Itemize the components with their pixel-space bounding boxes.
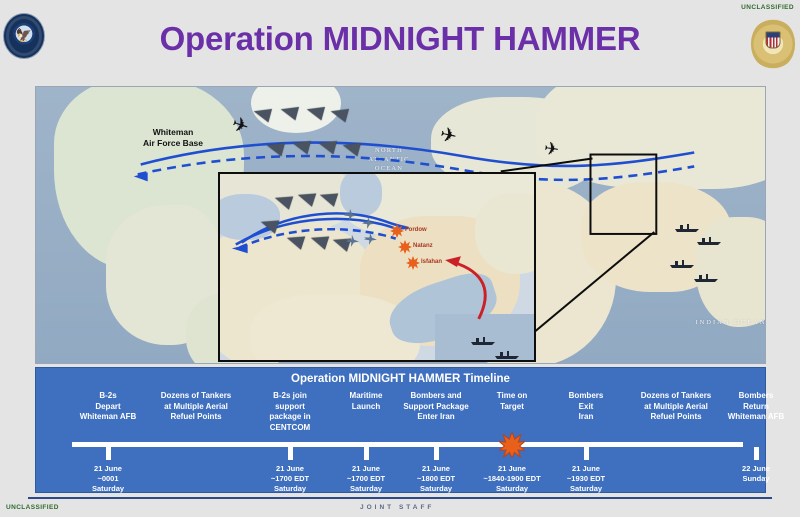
timeline-tick-return bbox=[754, 447, 759, 460]
target-label-isfahan: Isfahan bbox=[421, 259, 442, 265]
route-outbound-solid bbox=[141, 143, 694, 166]
timeline-event-label-line: Enter Iran bbox=[386, 412, 486, 423]
operation-map: NORTH ATLANTIC OCEAN INDIAN OCEAN Whitem… bbox=[35, 86, 766, 364]
timeline-tick-exit-iran bbox=[584, 447, 589, 460]
footer-divider bbox=[28, 497, 772, 499]
timeline-date-return: 22 JuneSunday bbox=[701, 464, 800, 484]
timeline-event-label-line: Refuel Points bbox=[146, 412, 246, 423]
navy-ship-icon bbox=[470, 332, 496, 341]
timeline-event-label-line: Return bbox=[706, 402, 800, 413]
timeline-event-label-line: Bombers bbox=[536, 391, 636, 402]
timeline-event-label-line: B-2s bbox=[58, 391, 158, 402]
timeline-event-label-line: Whiteman AFB bbox=[706, 412, 800, 423]
page-title: Operation MIDNIGHT HAMMER bbox=[0, 20, 800, 58]
timeline-date-exit-iran: 21 June~1930 EDTSaturday bbox=[531, 464, 641, 494]
navy-ship-icon bbox=[693, 269, 719, 278]
timeline-date-line: Saturday bbox=[53, 484, 163, 494]
navy-ship-icon bbox=[494, 346, 520, 355]
timeline-event-tanker-refuel-1: Dozens of Tankersat Multiple AerialRefue… bbox=[146, 391, 246, 423]
target-marker-natanz bbox=[398, 240, 411, 253]
fighter-escort-icon bbox=[363, 231, 377, 245]
timeline-date-line: ~0001 bbox=[53, 474, 163, 484]
timeline-tick-depart bbox=[106, 447, 111, 460]
navy-ship-icon bbox=[674, 219, 700, 228]
timeline-event-label-line: Dozens of Tankers bbox=[146, 391, 246, 402]
fighter-escort-icon bbox=[343, 207, 357, 221]
timeline-date-line: Saturday bbox=[531, 484, 641, 494]
classification-marking-top: UNCLASSIFIED bbox=[741, 4, 794, 11]
timeline-event-label-line: Exit bbox=[536, 402, 636, 413]
footer-organization: JOINT STAFF bbox=[360, 504, 434, 511]
fighter-escort-icon bbox=[345, 233, 359, 247]
timeline-event-label-line: Bombers bbox=[706, 391, 800, 402]
timeline-event-depart: B-2sDepartWhiteman AFB bbox=[58, 391, 158, 423]
navy-ship-icon bbox=[669, 255, 695, 264]
timeline-date-depart: 21 June~0001Saturday bbox=[53, 464, 163, 494]
timeline-title: Operation MIDNIGHT HAMMER Timeline bbox=[36, 373, 765, 385]
operation-timeline: Operation MIDNIGHT HAMMER Timeline B-2sD… bbox=[35, 367, 766, 493]
target-marker-isfahan bbox=[406, 256, 419, 269]
timeline-event-label-line: Whiteman AFB bbox=[58, 412, 158, 423]
timeline-strike-burst-icon bbox=[499, 432, 525, 458]
timeline-event-label-line: package in bbox=[240, 412, 340, 423]
timeline-event-label-line: Iran bbox=[536, 412, 636, 423]
timeline-date-line: ~1930 EDT bbox=[531, 474, 641, 484]
timeline-event-label-line: CENTCOM bbox=[240, 423, 340, 434]
timeline-event-exit-iran: BombersExitIran bbox=[536, 391, 636, 423]
timeline-date-line: 21 June bbox=[53, 464, 163, 474]
classification-marking-bottom: UNCLASSIFIED bbox=[6, 504, 59, 511]
timeline-date-line: 21 June bbox=[531, 464, 641, 474]
timeline-tick-enter-iran bbox=[434, 447, 439, 460]
fighter-escort-icon bbox=[361, 215, 375, 229]
tanker-aircraft-icon: ✈ bbox=[543, 138, 561, 161]
timeline-event-return: BombersReturnWhiteman AFB bbox=[706, 391, 800, 423]
timeline-event-label-line: Depart bbox=[58, 402, 158, 413]
timeline-tick-join-support-package bbox=[288, 447, 293, 460]
timeline-tick-maritime-launch bbox=[364, 447, 369, 460]
target-label-natanz: Natanz bbox=[413, 243, 433, 249]
timeline-axis-bar bbox=[72, 442, 743, 447]
timeline-date-line: 22 June bbox=[701, 464, 800, 474]
timeline-date-line: Sunday bbox=[701, 474, 800, 484]
navy-ship-icon bbox=[696, 232, 722, 241]
target-marker-fordow bbox=[390, 224, 403, 237]
briefing-slide: UNCLASSIFIED 🦅 Operation MIDNIGHT HAMMER… bbox=[0, 0, 800, 517]
theater-inset-map: Fordow Natanz Isfahan bbox=[218, 172, 536, 362]
target-label-fordow: Fordow bbox=[405, 227, 427, 233]
timeline-event-label-line: at Multiple Aerial bbox=[146, 402, 246, 413]
